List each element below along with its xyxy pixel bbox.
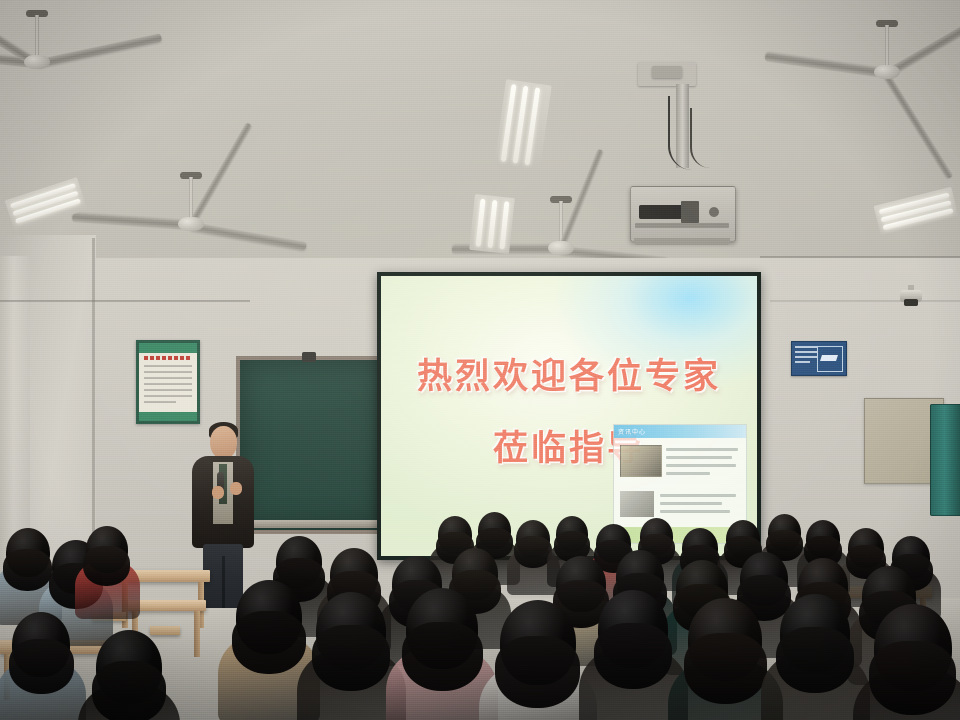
wall-seam-right-lower xyxy=(770,300,960,302)
ceiling-fan-center xyxy=(560,196,561,197)
wall-seam-right xyxy=(760,256,960,258)
fluorescent-fixture-lower xyxy=(469,194,515,254)
camera-lens-icon xyxy=(904,299,918,306)
ceiling-fan-left xyxy=(36,10,37,11)
audience-member xyxy=(12,612,70,720)
surveillance-warning-sign xyxy=(791,341,847,376)
fan-downrod xyxy=(35,15,39,59)
projector-base xyxy=(634,238,730,245)
notice-board xyxy=(136,340,200,424)
fan-hub xyxy=(178,217,204,231)
screen-title-line-1: 热烈欢迎各位专家 xyxy=(381,348,757,399)
wall-seam-left xyxy=(0,300,250,302)
presenter-head xyxy=(210,426,237,459)
camsign-text xyxy=(795,346,817,366)
fan-hub xyxy=(874,65,900,79)
fan-downrod xyxy=(885,25,889,69)
projector-knob xyxy=(709,207,719,217)
ceiling-fan-right xyxy=(886,20,887,21)
inset-panel-header: 资讯中心 xyxy=(614,425,746,438)
notice-title-text xyxy=(144,356,192,360)
audience-member xyxy=(96,630,162,720)
classroom-photo: 热烈欢迎各位专家 莅临指导 资讯中心 xyxy=(0,0,960,720)
wall-mounted-camera xyxy=(900,290,924,308)
audience-member-hair xyxy=(3,549,52,591)
projector-plate-detail xyxy=(652,66,682,78)
camera-icon xyxy=(817,346,843,372)
notice-header xyxy=(139,343,197,353)
projector-body xyxy=(630,186,736,242)
inset-panel-header-label: 资讯中心 xyxy=(618,427,646,436)
ceiling-fan-center-left xyxy=(190,172,191,173)
student-audience xyxy=(0,470,960,720)
audience-row-left-side xyxy=(0,470,960,720)
audience-member-hair xyxy=(92,661,166,720)
projector-cable-secondary xyxy=(690,108,710,168)
fan-hub xyxy=(24,55,50,69)
fan-hub xyxy=(548,241,574,255)
projector-cable xyxy=(668,96,692,170)
projector-vent xyxy=(681,201,699,223)
projector-grille xyxy=(635,223,729,228)
audience-member xyxy=(86,526,128,636)
chalkboard-clip xyxy=(302,352,316,362)
audience-member-hair xyxy=(83,546,130,586)
audience-member-hair xyxy=(9,639,74,694)
